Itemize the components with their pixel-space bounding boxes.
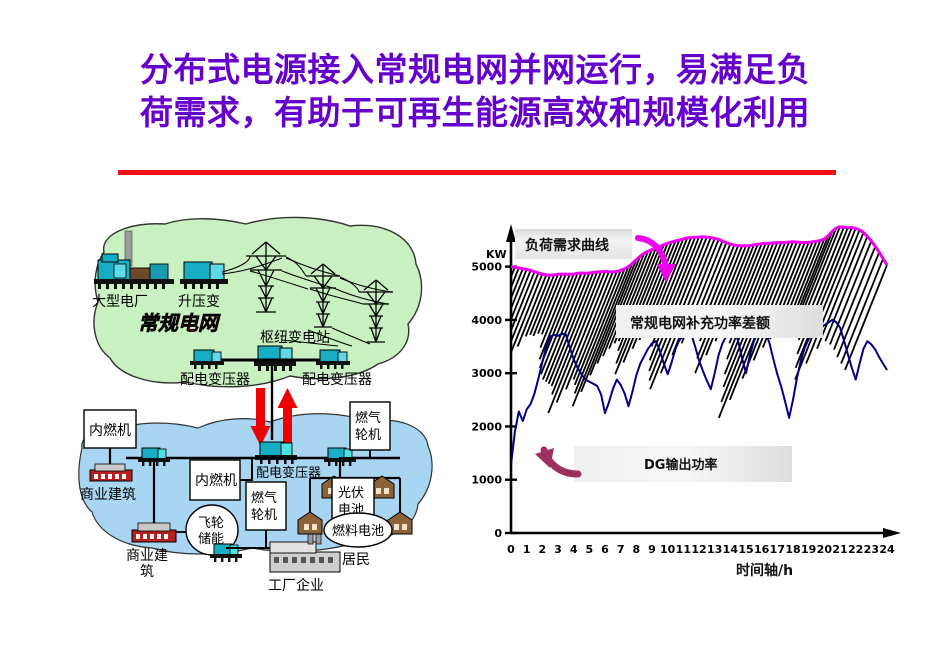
x-tick-label: 18 (785, 543, 800, 556)
x-tick-label: 0 (507, 543, 515, 556)
label-hub-substation: 枢纽变电站 (260, 330, 330, 346)
title-divider-rule (118, 170, 836, 175)
label-gas-turbine-right-line2: 轮机 (355, 428, 381, 443)
x-tick-label: 1 (523, 543, 531, 556)
x-tick-label: 19 (801, 543, 816, 556)
x-tick-label: 6 (601, 543, 609, 556)
label-large-power-plant: 大型电厂 (92, 294, 148, 310)
x-tick-label: 3 (554, 543, 562, 556)
hatch-stroke (548, 271, 605, 413)
label-residents: 居民 (342, 552, 370, 568)
load-demand-callout-text: 负荷需求曲线 (525, 237, 609, 254)
dg-output-callout-text: DG输出功率 (644, 457, 717, 473)
power-curve-chart: 010002000300040005000 KW 012345678910111… (450, 212, 920, 602)
x-tick-label: 13 (707, 543, 722, 556)
x-tick-label: 16 (754, 543, 770, 556)
x-tick-label: 15 (738, 543, 753, 556)
label-distribution-transformer-left: 配电变压器 (180, 372, 250, 388)
label-pv-cell-line1: 光伏 (338, 486, 364, 501)
hatch-stroke (471, 269, 527, 409)
hatch-stroke (477, 270, 530, 404)
label-fuel-cell: 燃料电池 (332, 523, 384, 539)
grid-supplement-callout-text: 常规电网补充功率差额 (630, 315, 770, 332)
commercial-building-2-icon (132, 523, 176, 542)
label-ice-mid: 内燃机 (195, 472, 237, 489)
hatch-stroke (496, 273, 538, 379)
x-tick-label: 8 (633, 543, 641, 556)
hatch-stroke (450, 267, 515, 432)
x-axis-ticks: 0123456789101112131415161718192021222324 (507, 543, 895, 556)
x-tick-label: 11 (676, 543, 691, 556)
x-tick-label: 12 (691, 543, 706, 556)
distributed-generation-schematic: 大型电厂 升压变 (70, 212, 450, 602)
title-line-2: 荷需求，有助于可再生能源高效和规模化利用 (0, 91, 950, 134)
y-axis-unit-label: KW (486, 248, 507, 261)
label-distribution-transformer-right: 配电变压器 (302, 372, 372, 388)
label-gas-turbine-center-line1: 燃气 (251, 490, 277, 506)
hatch-stroke (834, 246, 875, 349)
x-tick-label: 10 (660, 543, 676, 556)
slide-title: 分布式电源接入常规电网并网运行，易满足负 荷需求，有助于可再生能源高效和规模化利… (0, 48, 950, 134)
hatch-stroke (541, 273, 582, 374)
title-line-1: 分布式电源接入常规电网并网运行，易满足负 (0, 48, 950, 91)
x-tick-label: 23 (864, 543, 879, 556)
label-step-up-transformer: 升压变 (178, 294, 220, 310)
label-commercial-building-2-line2: 筑 (140, 564, 154, 580)
x-tick-label: 14 (723, 543, 739, 556)
x-tick-label: 20 (817, 543, 833, 556)
y-tick-label: 4000 (471, 314, 502, 327)
label-flywheel-line1: 飞轮 (198, 516, 224, 531)
x-tick-label: 5 (586, 543, 594, 556)
x-tick-label: 7 (617, 543, 625, 556)
hatch-stroke (845, 265, 887, 370)
label-ice-top: 内燃机 (89, 422, 131, 439)
label-commercial-building-1: 商业建筑 (80, 487, 136, 503)
x-tick-label: 17 (770, 543, 785, 556)
y-tick-label: 1000 (471, 474, 502, 487)
dg-transformer-node-factory (210, 544, 242, 562)
grid-supplement-callout: 常规电网补充功率差额 (616, 305, 823, 338)
label-gas-turbine-right-line1: 燃气 (355, 410, 381, 426)
y-tick-label: 2000 (471, 420, 502, 433)
y-tick-label: 0 (494, 527, 502, 540)
x-tick-label: 22 (848, 543, 863, 556)
x-tick-label: 4 (570, 543, 578, 556)
hatch-stroke (806, 230, 860, 364)
label-factory: 工厂企业 (268, 577, 324, 594)
hatch-stroke (518, 275, 547, 347)
label-grid-watermark: 常规电网 (138, 311, 221, 335)
label-gas-turbine-center-line2: 轮机 (251, 508, 277, 523)
dg-output-callout: DG输出功率 (535, 446, 792, 482)
x-axis-caption: 时间轴/h (736, 562, 793, 579)
x-tick-label: 9 (648, 543, 656, 556)
x-tick-label: 24 (879, 543, 895, 556)
y-tick-label: 3000 (471, 367, 502, 380)
x-tick-label: 2 (539, 543, 547, 556)
y-tick-label: 5000 (471, 261, 502, 274)
label-commercial-building-2-line1: 商业建 (126, 548, 168, 564)
x-tick-label: 21 (832, 543, 847, 556)
